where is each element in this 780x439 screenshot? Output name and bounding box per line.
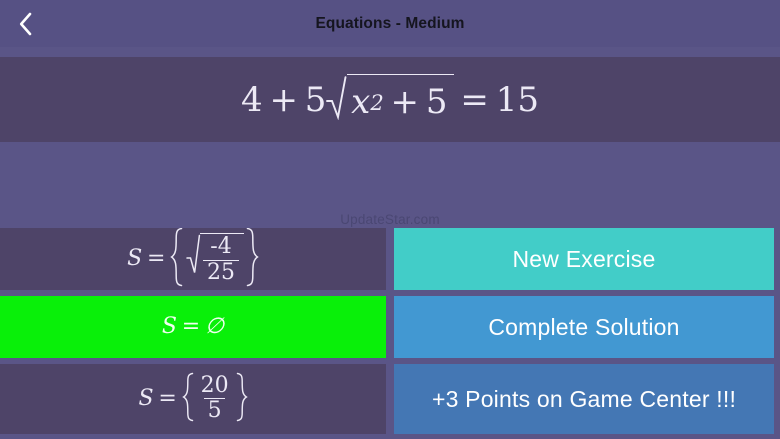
game-center-points-button[interactable]: +3 Points on Game Center !!! (394, 364, 774, 434)
set-variable-s: S (138, 388, 153, 410)
left-curly-brace (170, 228, 184, 290)
equation-plus-operator: + (269, 83, 298, 117)
empty-set-symbol: ∅ (205, 316, 224, 338)
radicand-term-5: 5 (426, 85, 448, 119)
equation-coefficient-5: 5 (305, 83, 327, 117)
answer-option-2-math: S = ∅ (162, 316, 224, 338)
equation-radical: x2 + 5 (326, 74, 453, 126)
equals-sign: = (147, 248, 165, 270)
right-curly-brace (235, 372, 248, 427)
radicand-plus-operator: + (391, 85, 420, 119)
new-exercise-button[interactable]: New Exercise (394, 228, 774, 290)
answer-option-1-math: S = (127, 228, 259, 290)
equals-sign: = (182, 316, 200, 338)
radical-sign-icon (326, 74, 348, 126)
answer-1-radical: -4 25 (186, 233, 244, 285)
answer-option-1-value: -4 25 (186, 233, 244, 285)
fraction-numerator: -4 (207, 236, 235, 260)
fraction-denominator: 25 (203, 260, 238, 285)
radicand: x2 + 5 (347, 74, 454, 126)
set-variable-s: S (127, 248, 142, 270)
answer-option-3[interactable]: S = 20 5 (0, 364, 386, 434)
radicand-variable-x: x (351, 85, 370, 119)
left-curly-brace (182, 372, 195, 427)
radicand-exponent-2: 2 (370, 92, 383, 113)
chevron-left-icon (18, 11, 34, 37)
right-curly-brace (245, 228, 259, 290)
fraction-denominator: 5 (204, 398, 225, 423)
fraction: -4 25 (203, 236, 238, 285)
equals-sign: = (158, 388, 176, 410)
answer-1-radicand: -4 25 (200, 233, 244, 285)
answer-options-list: S = (0, 228, 386, 439)
equation-equals-sign: = (460, 83, 489, 117)
answer-option-1[interactable]: S = (0, 228, 386, 290)
app-root: Equations - Medium 4 + 5 x2 + 5 = 15 (0, 0, 780, 439)
action-buttons-list: New Exercise Complete Solution +3 Points… (394, 228, 774, 439)
fraction-numerator: 20 (197, 375, 232, 399)
new-exercise-label: New Exercise (513, 246, 656, 273)
answer-option-2[interactable]: S = ∅ (0, 296, 386, 358)
game-center-points-label: +3 Points on Game Center !!! (432, 386, 736, 413)
set-variable-s: S (162, 316, 177, 338)
answer-option-3-math: S = 20 5 (138, 372, 247, 427)
fraction: 20 5 (197, 375, 232, 424)
app-header: Equations - Medium (0, 0, 780, 47)
answer-option-3-value: 20 5 (196, 375, 233, 424)
equation-term-4: 4 (241, 83, 263, 117)
complete-solution-button[interactable]: Complete Solution (394, 296, 774, 358)
page-title: Equations - Medium (315, 16, 464, 32)
back-button[interactable] (4, 4, 48, 44)
complete-solution-label: Complete Solution (488, 314, 679, 341)
equation-panel: 4 + 5 x2 + 5 = 15 (0, 57, 780, 142)
watermark-text: UpdateStar.com (0, 212, 780, 227)
radical-sign-icon (186, 233, 201, 285)
equation-rhs: 15 (496, 83, 539, 117)
equation-expression: 4 + 5 x2 + 5 = 15 (241, 74, 539, 126)
